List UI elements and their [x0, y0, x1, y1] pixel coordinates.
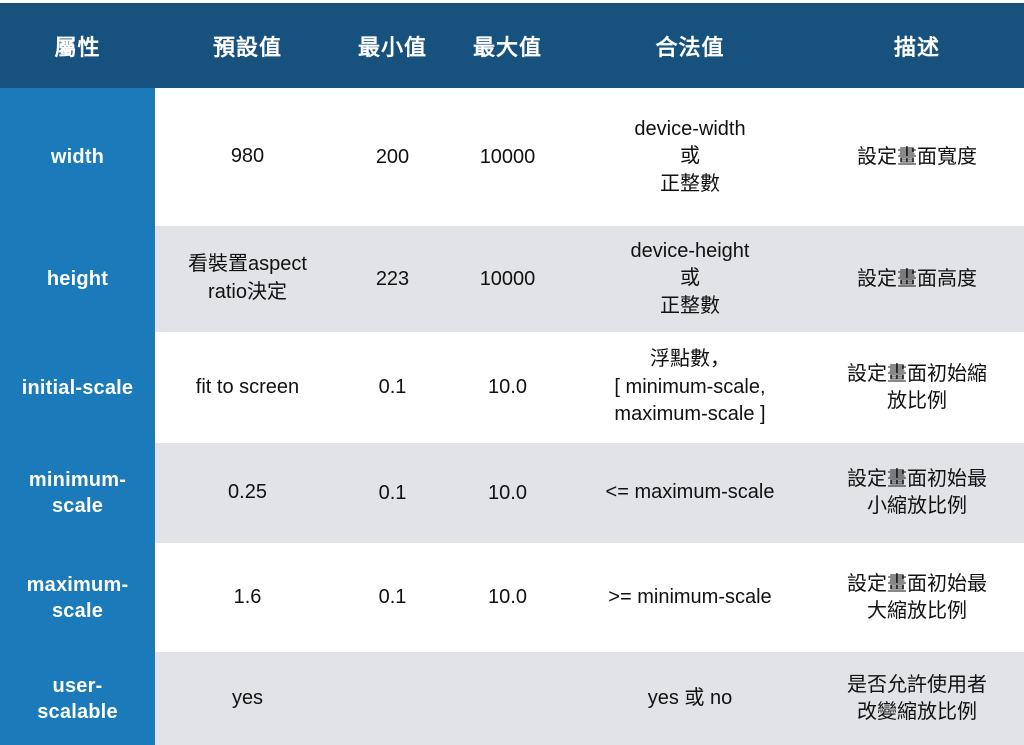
viewport-attributes-table-container: 屬性 預設值 最小值 最大值 合法值 描述 width 980 200 1000…	[0, 0, 1024, 707]
default-value-cell: 1.6	[155, 543, 340, 652]
max-value-cell: 10000	[445, 226, 570, 332]
attribute-name-cell: minimum- scale	[0, 443, 155, 543]
attribute-name-line: scalable	[8, 699, 147, 725]
min-value-cell: 200	[340, 88, 445, 226]
legal-value-cell: 浮點數， [ minimum-scale, maximum-scale ]	[570, 332, 810, 443]
attribute-name-line: scale	[8, 598, 147, 624]
legal-value-line: 或	[576, 265, 804, 293]
attribute-name-line: initial-scale	[8, 375, 147, 401]
max-value-cell: 10.0	[445, 443, 570, 543]
attribute-name-cell: width	[0, 88, 155, 226]
default-value-cell: 980	[155, 88, 340, 226]
min-value-cell: 0.1	[340, 443, 445, 543]
min-value-cell: 0.1	[340, 332, 445, 443]
description-line: 放比例	[816, 388, 1018, 415]
description-line: 大縮放比例	[816, 598, 1018, 625]
attribute-name-line: height	[8, 266, 147, 292]
legal-value-line: 浮點數，	[576, 346, 804, 374]
legal-value-cell: >= minimum-scale	[570, 543, 810, 652]
description-cell: 是否允許使用者 改變縮放比例	[810, 652, 1024, 745]
attribute-name-cell: user- scalable	[0, 652, 155, 745]
attribute-name-cell: initial-scale	[0, 332, 155, 443]
column-header-attribute: 屬性	[0, 3, 155, 88]
min-value-cell: 0.1	[340, 543, 445, 652]
description-line: 小縮放比例	[816, 493, 1018, 520]
default-value-line: 980	[161, 143, 334, 171]
default-value-line: 1.6	[161, 584, 334, 612]
table-row: width 980 200 10000 device-width 或 正整數 設…	[0, 88, 1024, 226]
legal-value-cell: device-width 或 正整數	[570, 88, 810, 226]
description-cell: 設定畫面寬度	[810, 88, 1024, 226]
default-value-cell: fit to screen	[155, 332, 340, 443]
legal-value-cell: <= maximum-scale	[570, 443, 810, 543]
legal-value-cell: device-height 或 正整數	[570, 226, 810, 332]
column-header-default: 預設值	[155, 3, 340, 88]
column-header-min: 最小值	[340, 3, 445, 88]
attribute-name-line: scale	[8, 493, 147, 519]
max-value-cell: 10.0	[445, 543, 570, 652]
column-header-desc: 描述	[810, 3, 1024, 88]
description-cell: 設定畫面初始縮 放比例	[810, 332, 1024, 443]
description-line: 設定畫面初始最	[816, 466, 1018, 493]
legal-value-line: yes 或 no	[576, 685, 804, 713]
description-cell: 設定畫面初始最 小縮放比例	[810, 443, 1024, 543]
attribute-name-line: user-	[8, 673, 147, 699]
min-value-cell: 223	[340, 226, 445, 332]
max-value-cell: 10.0	[445, 332, 570, 443]
legal-value-cell: yes 或 no	[570, 652, 810, 745]
column-header-max: 最大值	[445, 3, 570, 88]
description-line: 設定畫面初始最	[816, 571, 1018, 598]
description-line: 設定畫面高度	[816, 266, 1018, 293]
default-value-line: yes	[161, 685, 334, 713]
default-value-line: fit to screen	[161, 374, 334, 402]
attribute-name-line: width	[8, 144, 147, 170]
legal-value-line: maximum-scale ]	[576, 401, 804, 429]
default-value-cell: 看裝置aspect ratio決定	[155, 226, 340, 332]
max-value-cell	[445, 652, 570, 745]
legal-value-line: device-width	[576, 116, 804, 144]
min-value-cell	[340, 652, 445, 745]
table-body: width 980 200 10000 device-width 或 正整數 設…	[0, 88, 1024, 745]
description-line: 設定畫面初始縮	[816, 361, 1018, 388]
legal-value-line: <= maximum-scale	[576, 479, 804, 507]
description-line: 是否允許使用者	[816, 672, 1018, 699]
description-line: 設定畫面寬度	[816, 144, 1018, 171]
attribute-name-cell: height	[0, 226, 155, 332]
legal-value-line: 正整數	[576, 293, 804, 321]
default-value-cell: yes	[155, 652, 340, 745]
legal-value-line: 正整數	[576, 171, 804, 199]
table-header-row: 屬性 預設值 最小值 最大值 合法值 描述	[0, 3, 1024, 88]
attribute-name-line: minimum-	[8, 467, 147, 493]
legal-value-line: >= minimum-scale	[576, 584, 804, 612]
table-row: initial-scale fit to screen 0.1 10.0 浮點數…	[0, 332, 1024, 443]
table-row: height 看裝置aspect ratio決定 223 10000 devic…	[0, 226, 1024, 332]
legal-value-line: device-height	[576, 238, 804, 266]
legal-value-line: [ minimum-scale,	[576, 374, 804, 402]
table-header: 屬性 預設值 最小值 最大值 合法值 描述	[0, 3, 1024, 88]
default-value-line: 看裝置aspect	[161, 251, 334, 279]
attribute-name-line: maximum-	[8, 572, 147, 598]
default-value-line: 0.25	[161, 479, 334, 507]
description-cell: 設定畫面初始最 大縮放比例	[810, 543, 1024, 652]
table-row: maximum- scale 1.6 0.1 10.0 >= minimum-s…	[0, 543, 1024, 652]
viewport-attributes-table: 屬性 預設值 最小值 最大值 合法值 描述 width 980 200 1000…	[0, 3, 1024, 745]
legal-value-line: 或	[576, 143, 804, 171]
description-line: 改變縮放比例	[816, 699, 1018, 726]
max-value-cell: 10000	[445, 88, 570, 226]
attribute-name-cell: maximum- scale	[0, 543, 155, 652]
table-row: minimum- scale 0.25 0.1 10.0 <= maximum-…	[0, 443, 1024, 543]
column-header-legal: 合法值	[570, 3, 810, 88]
description-cell: 設定畫面高度	[810, 226, 1024, 332]
default-value-cell: 0.25	[155, 443, 340, 543]
table-row: user- scalable yes yes 或 no 是否允許使用者 改變縮放…	[0, 652, 1024, 745]
default-value-line: ratio決定	[161, 279, 334, 307]
